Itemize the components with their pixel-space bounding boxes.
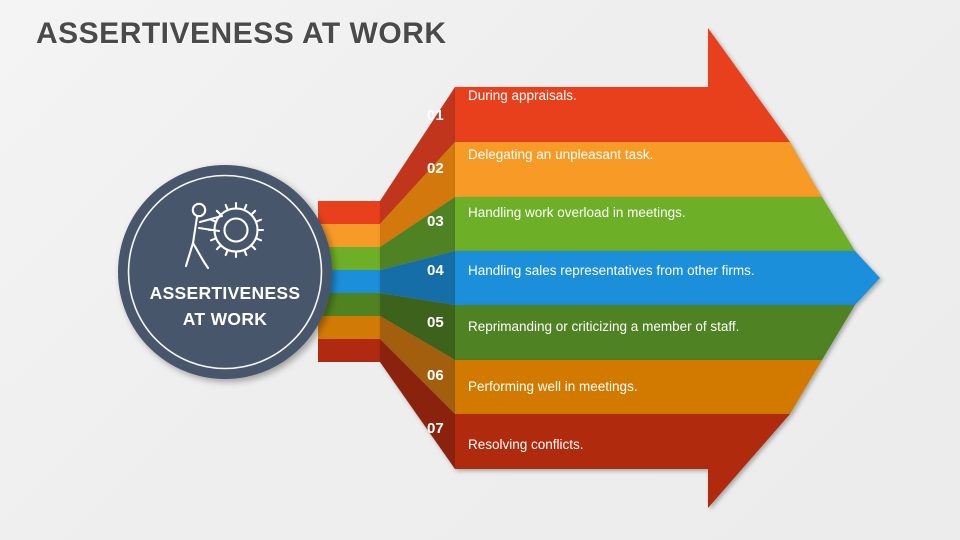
row-label-06: Performing well in meetings. [468,379,638,394]
assertiveness-hub[interactable] [118,165,332,379]
hub-title-line1: ASSERTIVENESS [150,283,301,303]
arrow-bar-01[interactable] [455,28,790,142]
arrow-bar-04[interactable] [455,251,880,305]
row-number-05: 05 [427,314,444,331]
fan-wedges [380,87,455,469]
row-label-01: During appraisals. [468,88,577,103]
row-label-02: Delegating an unpleasant task. [468,147,653,162]
assertiveness-arrow-diagram: 01 02 03 04 05 06 07 During appraisals. … [0,0,960,540]
row-label-07: Resolving conflicts. [468,437,584,452]
hub-title-line2: AT WORK [183,309,267,329]
connector-strip-07 [318,339,380,362]
slide-canvas: ASSERTIVENESS AT WORK [0,0,960,540]
connector-strip-06 [318,316,380,339]
row-number-02: 02 [427,160,444,177]
row-number-07: 07 [427,420,444,437]
row-label-03: Handling work overload in meetings. [468,205,686,220]
hub-circle-fill [118,165,332,379]
arrow-bar-07[interactable] [455,414,790,508]
row-number-01: 01 [427,107,444,124]
row-label-05: Reprimanding or criticizing a member of … [468,319,739,334]
row-number-06: 06 [427,367,444,384]
row-number-04: 04 [427,262,444,279]
connector-strip-01 [318,201,380,224]
row-number-03: 03 [427,213,444,230]
row-label-04: Handling sales representatives from othe… [468,263,755,278]
